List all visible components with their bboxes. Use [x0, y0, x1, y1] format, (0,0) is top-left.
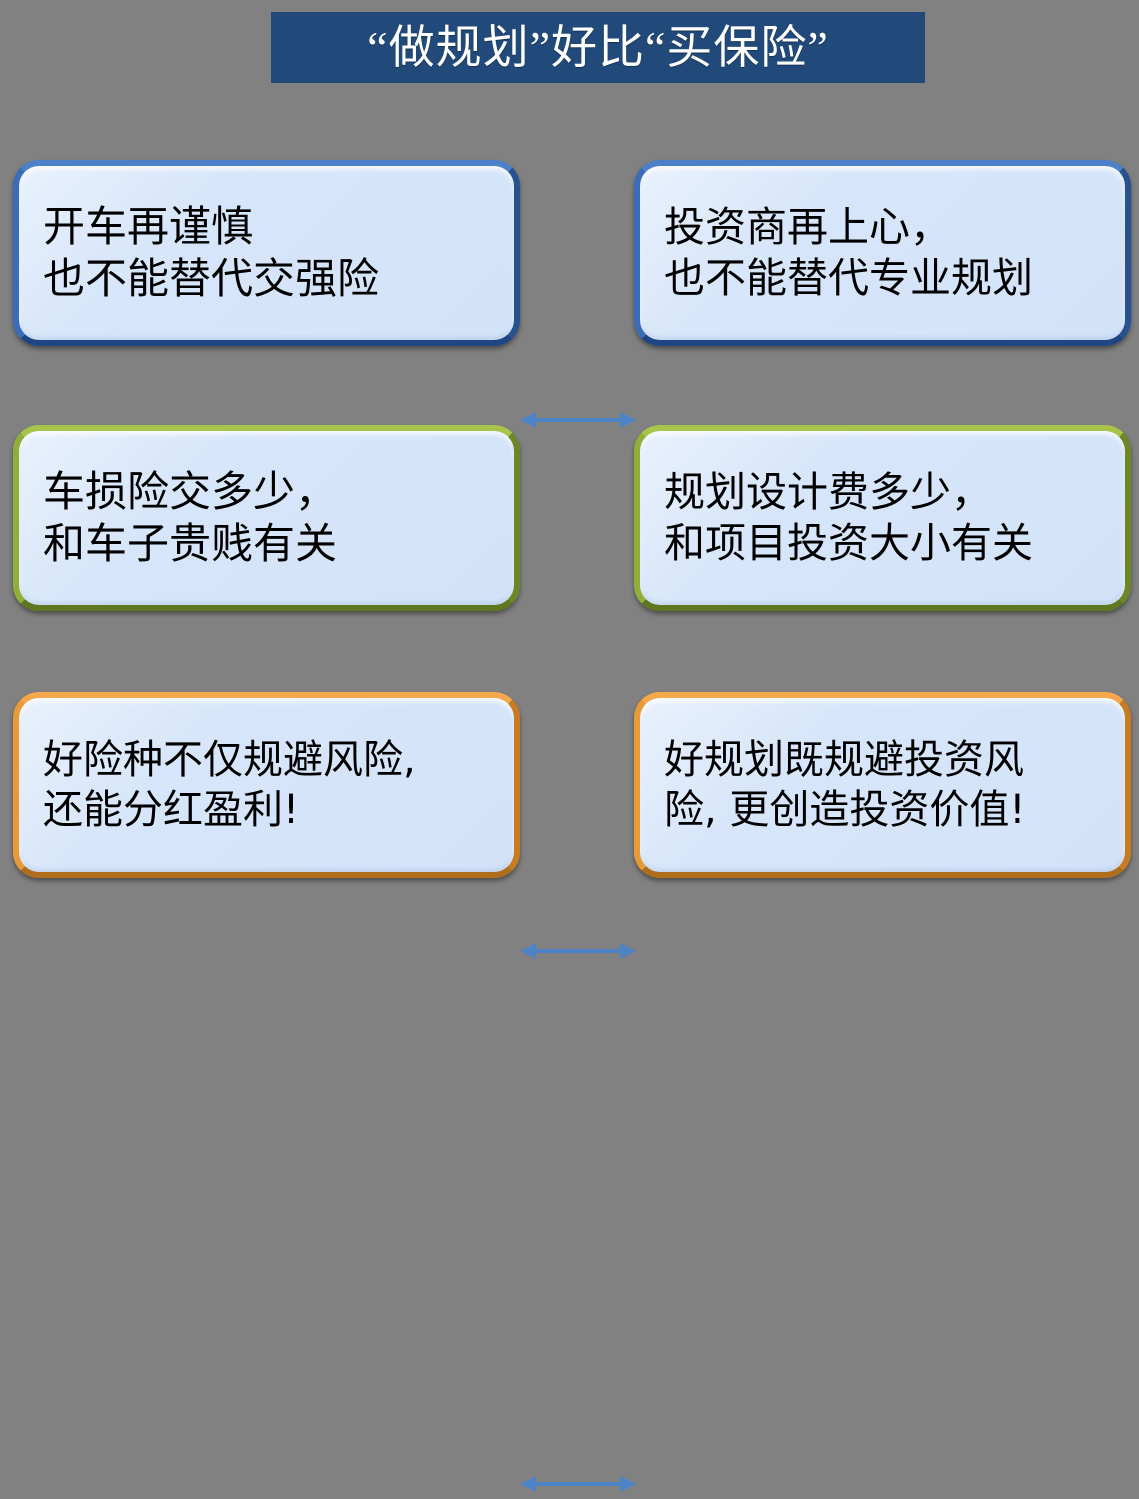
insurance-box-row-1[interactable]: 开车再谨慎 也不能替代交强险	[13, 160, 520, 346]
planning-box-row-3-text: 好规划既规避投资风 险, 更创造投资价值!	[664, 735, 1025, 835]
connector-arrow-row-3	[520, 1469, 636, 1499]
insurance-box-row-3-text: 好险种不仅规避风险, 还能分红盈利!	[43, 735, 416, 835]
connector-arrow-row-2	[520, 936, 636, 966]
insurance-box-row-3[interactable]: 好险种不仅规避风险, 还能分红盈利!	[13, 692, 520, 878]
planning-box-row-1[interactable]: 投资商再上心， 也不能替代专业规划	[634, 160, 1131, 346]
slide-title-banner: “做规划”好比“买保险”	[271, 12, 925, 83]
planning-box-row-2-text: 规划设计费多少， 和项目投资大小有关	[664, 467, 1033, 570]
page-title: “做规划”好比“买保险”	[367, 25, 829, 71]
planning-box-row-1-text: 投资商再上心， 也不能替代专业规划	[664, 202, 1033, 305]
comparison-row-1: 开车再谨慎 也不能替代交强险 投资商再上心， 也不能替代专业规划	[0, 160, 1139, 350]
double-headed-arrow-icon	[520, 936, 636, 966]
insurance-box-row-2-text: 车损险交多少， 和车子贵贱有关	[43, 466, 337, 571]
double-headed-arrow-icon	[520, 1469, 636, 1499]
planning-box-row-3[interactable]: 好规划既规避投资风 险, 更创造投资价值!	[634, 692, 1131, 878]
insurance-box-row-2[interactable]: 车损险交多少， 和车子贵贱有关	[13, 425, 520, 611]
planning-box-row-2[interactable]: 规划设计费多少， 和项目投资大小有关	[634, 425, 1131, 611]
insurance-box-row-1-text: 开车再谨慎 也不能替代交强险	[43, 201, 379, 306]
comparison-row-2: 车损险交多少， 和车子贵贱有关 规划设计费多少， 和项目投资大小有关	[0, 425, 1139, 615]
comparison-row-3: 好险种不仅规避风险, 还能分红盈利! 好规划既规避投资风 险, 更创造投资价值!	[0, 692, 1139, 882]
